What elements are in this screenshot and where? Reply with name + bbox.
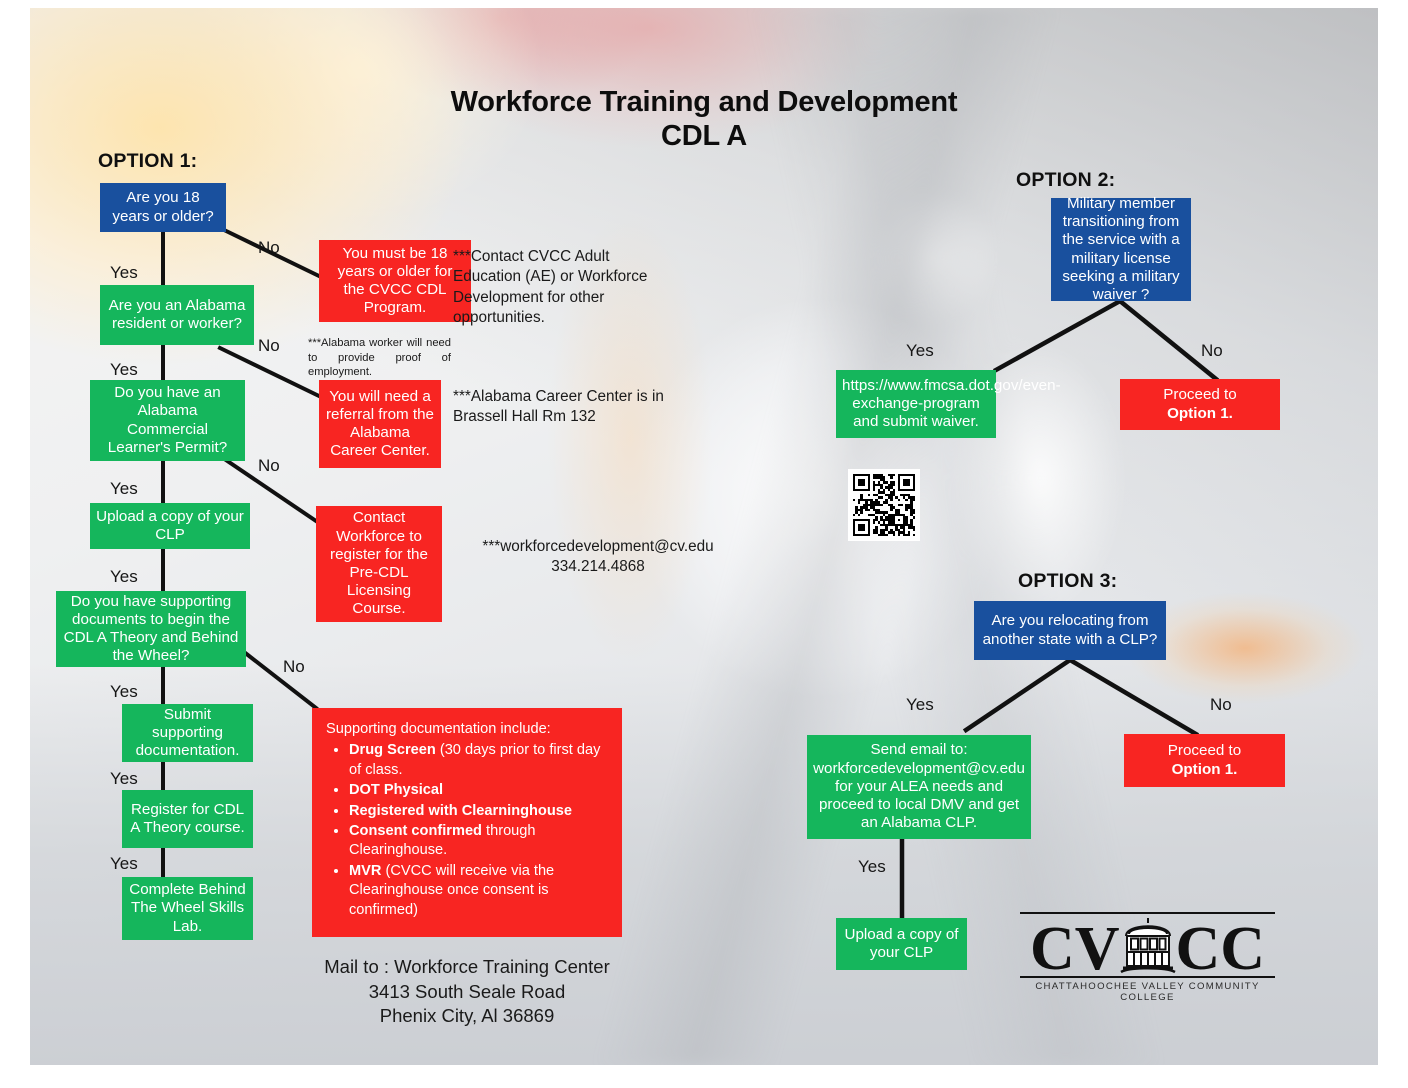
edge-label-yes-clp: Yes [110,480,138,497]
list-item: DOT Physical [349,781,608,800]
mail-to-line3: Phenix City, Al 36869 [292,1004,642,1029]
node-send-email-alea[interactable]: Send email to: workforcedevelopment@cv.e… [807,735,1031,839]
logo-tagline: CHATTAHOOCHEE VALLEY COMMUNITY COLLEGE [1020,981,1275,1003]
note-alabama-worker: ***Alabama worker will need to provide p… [308,336,451,380]
list-item: Drug Screen (30 days prior to first day … [349,741,608,780]
edge-label-no-resident: No [258,337,280,354]
logo-right-letters: CC [1176,923,1266,976]
node-proceed-option1-from-option3[interactable]: Proceed to Option 1. [1124,734,1285,787]
node-must-be-18[interactable]: You must be 18 years or older for the CV… [319,240,471,322]
page-title-line1: Workforce Training and Development [354,86,1054,120]
supporting-documentation-panel: Supporting documentation include: Drug S… [312,708,622,937]
page-title-line2: CDL A [354,120,1054,154]
cvcc-logo: CV [1020,912,1275,1003]
edge-label-yes-docs: Yes [110,683,138,700]
mail-to-line2: 3413 South Seale Road [292,980,642,1005]
node-fmcsa-even-exchange[interactable]: https://www.fmcsa.dot.gov/even-exchange-… [836,370,996,438]
edge-label-yes-resident: Yes [110,361,138,378]
poster-canvas: Workforce Training and Development CDL A… [30,8,1378,1065]
option1-label: OPTION 1: [98,150,197,173]
edge-label-no-docs: No [283,658,305,675]
edge-label-no-military: No [1201,342,1223,359]
qr-code-modules [853,474,915,536]
edge-label-yes-relocating: Yes [906,696,934,713]
option3-label: OPTION 3: [1018,570,1117,593]
logo-rotunda-icon [1120,914,1176,976]
node-career-center-referral[interactable]: You will need a referral from the Alabam… [319,380,441,468]
edge-label-yes-military: Yes [906,342,934,359]
node-submit-docs[interactable]: Submit supporting documentation. [122,704,253,762]
edge-label-yes-send-email: Yes [858,858,886,875]
node-upload-clp-option3[interactable]: Upload a copy of your CLP [836,918,967,970]
edge-label-yes-age: Yes [110,264,138,281]
note-workforce-contact: ***workforcedevelopment@cv.edu 334.214.4… [453,537,743,578]
node-behind-the-wheel[interactable]: Complete Behind The Wheel Skills Lab. [122,877,253,940]
supporting-docs-heading: Supporting documentation include: [326,720,608,739]
node-are-you-18[interactable]: Are you 18 years or older? [100,183,226,232]
note-workforce-phone: 334.214.4868 [453,557,743,577]
list-item: Registered with Clearninghouse [349,802,608,821]
edge-label-no-clp: No [258,457,280,474]
note-workforce-email: ***workforcedevelopment@cv.edu [453,537,743,557]
node-proceed-option1-from-option2[interactable]: Proceed to Option 1. [1120,379,1280,430]
proceed-option1-text-3: Proceed to Option 1. [1130,742,1279,778]
mail-to-line1: Mail to : Workforce Training Center [292,955,642,980]
page-title: Workforce Training and Development CDL A [354,86,1054,153]
option2-label: OPTION 2: [1016,169,1115,192]
node-alabama-resident[interactable]: Are you an Alabama resident or worker? [100,285,254,345]
qr-code-icon[interactable] [848,469,920,541]
logo-left-letters: CV [1030,923,1120,976]
list-item: Consent confirmed through Clearinghouse. [349,822,608,861]
edge-label-yes-upload: Yes [110,568,138,585]
supporting-docs-list: Drug Screen (30 days prior to first day … [324,741,608,920]
edge-label-yes-submit: Yes [110,770,138,787]
node-upload-clp[interactable]: Upload a copy of your CLP [90,503,250,549]
note-contact-cvcc: ***Contact CVCC Adult Education (AE) or … [453,247,668,328]
node-register-theory[interactable]: Register for CDL A Theory course. [122,790,253,848]
node-relocating-with-clp[interactable]: Are you relocating from another state wi… [974,601,1166,660]
list-item: MVR (CVCC will receive via the Clearingh… [349,862,608,920]
node-contact-workforce-precdl[interactable]: Contact Workforce to register for the Pr… [316,506,442,622]
edge-label-no-relocating: No [1210,696,1232,713]
edge-label-no-age: No [258,239,280,256]
node-military-member[interactable]: Military member transitioning from the s… [1051,198,1191,301]
node-have-clp[interactable]: Do you have an Alabama Commercial Learne… [90,380,245,461]
content-layer: Workforce Training and Development CDL A… [30,8,1378,1065]
node-have-supporting-docs[interactable]: Do you have supporting documents to begi… [56,591,246,667]
edge-label-yes-register: Yes [110,855,138,872]
logo-wordmark: CV [1020,914,1275,976]
note-career-center: ***Alabama Career Center is in Brassell … [453,387,678,428]
mail-to-block: Mail to : Workforce Training Center 3413… [292,955,642,1029]
poster-page: Workforce Training and Development CDL A… [0,0,1408,1088]
proceed-option1-text-2: Proceed to Option 1. [1126,386,1274,422]
